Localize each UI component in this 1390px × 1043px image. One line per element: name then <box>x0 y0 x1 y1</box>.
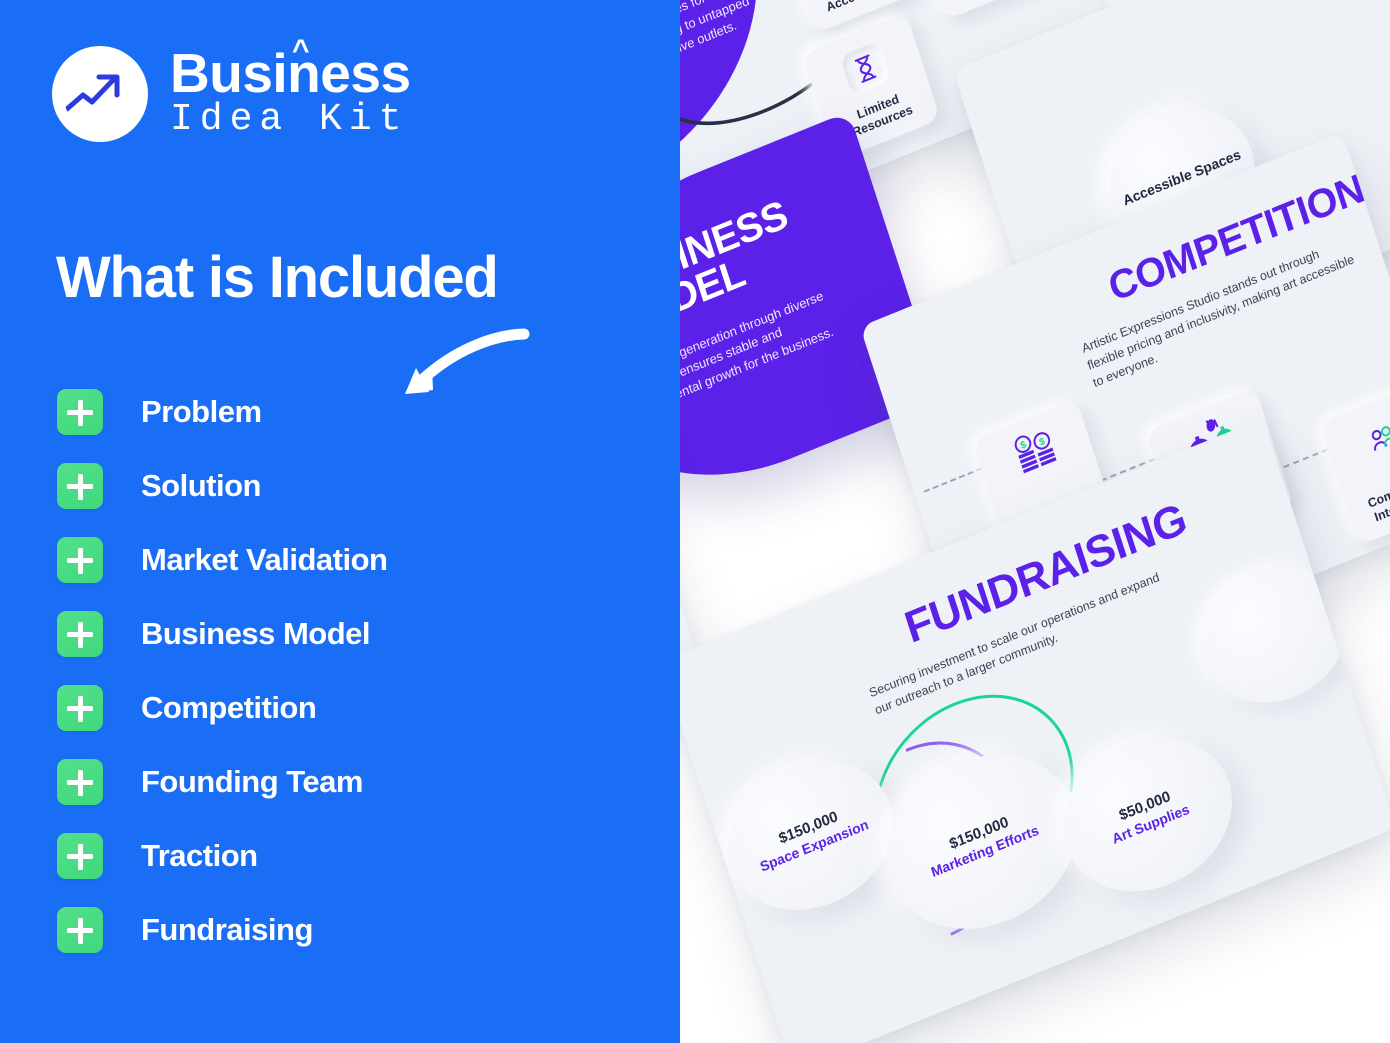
coins-stack-dollar-icon: $ $ <box>1004 422 1066 485</box>
svg-text:$: $ <box>1038 436 1047 449</box>
plus-icon <box>57 537 103 583</box>
list-item[interactable]: Fundraising <box>57 907 387 953</box>
community-icon <box>1357 410 1390 466</box>
list-item[interactable]: Problem <box>57 389 387 435</box>
svg-text:$: $ <box>1019 439 1028 452</box>
list-item[interactable]: Competition <box>57 685 387 731</box>
plus-icon <box>57 759 103 805</box>
list-item-label: Problem <box>141 394 262 430</box>
plus-icon <box>57 389 103 435</box>
list-item-label: Fundraising <box>141 912 313 948</box>
allocation-bubble[interactable]: $50,000 Art Supplies <box>1044 713 1251 917</box>
plus-icon <box>57 685 103 731</box>
brand-logo: Business ^ Idea Kit <box>52 46 411 142</box>
plus-icon <box>57 463 103 509</box>
curved-arrow-down-left-icon <box>383 322 533 404</box>
list-item-label: Market Validation <box>141 542 387 578</box>
problem-card[interactable]: High Cost <box>911 0 1050 20</box>
list-item-label: Solution <box>141 468 261 504</box>
competition-card-label: Community Integration <box>1346 463 1390 534</box>
list-item[interactable]: Market Validation <box>57 537 387 583</box>
list-item-label: Business Model <box>141 616 370 652</box>
plus-icon <box>57 907 103 953</box>
plus-icon <box>57 611 103 657</box>
list-item[interactable]: Traction <box>57 833 387 879</box>
list-item[interactable]: Solution <box>57 463 387 509</box>
growth-chart-circle-icon <box>52 46 148 142</box>
problem-card-label: High Cost <box>937 0 1046 9</box>
page-title: What is Included <box>56 248 498 309</box>
list-item[interactable]: Founding Team <box>57 759 387 805</box>
brand-subtitle: Idea Kit <box>170 99 411 141</box>
competition-card[interactable]: Community Integration <box>1319 382 1390 546</box>
list-item[interactable]: Business Model <box>57 611 387 657</box>
included-features-list: Problem Solution Market Validation Busin… <box>57 389 387 981</box>
slide-mockups-preview: THE PROBLEM Many individuals and communi… <box>668 0 1390 1043</box>
left-info-panel: Business ^ Idea Kit What is Included Pro… <box>0 0 680 1043</box>
list-item-label: Competition <box>141 690 316 726</box>
slide-fundraising[interactable]: FUNDRAISING Securing investment to scale… <box>668 418 1390 1043</box>
list-item-label: Founding Team <box>141 764 363 800</box>
brand-title: Business ^ <box>170 47 411 101</box>
plus-icon <box>57 833 103 879</box>
brand-title-text: Business <box>170 42 411 104</box>
decorative-bubble <box>1186 544 1365 724</box>
circumflex-accent-icon: ^ <box>292 36 309 66</box>
hourglass-icon <box>840 41 892 97</box>
list-item-label: Traction <box>141 838 258 874</box>
